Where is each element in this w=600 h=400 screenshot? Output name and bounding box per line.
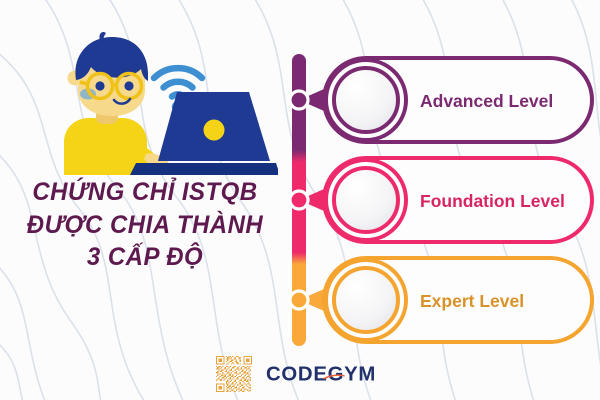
headline-line-1: CHỨNG CHỈ ISTQB — [6, 176, 284, 209]
qr-code[interactable] — [216, 356, 252, 392]
codegym-logo[interactable]: CODEGYM — [266, 362, 384, 386]
headline-line-3: 3 CẤP ĐỘ — [6, 241, 284, 274]
level-label-advanced: Advanced Level — [420, 91, 553, 111]
lens-ring-inner-expert — [334, 268, 398, 332]
lens-ring-inner-advanced — [334, 68, 398, 132]
level-label-foundation: Foundation Level — [420, 191, 565, 211]
node-advanced — [290, 91, 308, 109]
level-card-expert[interactable]: Expert Level — [290, 258, 592, 342]
boy-with-laptop-illustration — [48, 30, 278, 175]
node-foundation — [290, 191, 308, 209]
headline-line-2: ĐƯỢC CHIA THÀNH — [6, 209, 284, 242]
laptop-base — [130, 163, 278, 175]
level-card-foundation[interactable]: Foundation Level — [290, 158, 592, 242]
poster-canvas: CHỨNG CHỈ ISTQB ĐƯỢC CHIA THÀNH 3 CẤP ĐỘ — [0, 0, 600, 400]
codegym-wordmark: CODEGYM — [266, 364, 376, 386]
footer-brand-bar: CODEGYM — [0, 352, 600, 396]
lens-ring-inner-foundation — [334, 168, 398, 232]
boy-eye-left — [95, 81, 104, 90]
levels-timeline: Advanced Level Foundation Level Expert L… — [288, 52, 600, 348]
boy-eye-right — [124, 81, 133, 90]
level-card-advanced[interactable]: Advanced Level — [290, 58, 592, 142]
node-expert — [290, 291, 308, 309]
laptop-dot — [204, 120, 225, 141]
page-title: CHỨNG CHỈ ISTQB ĐƯỢC CHIA THÀNH 3 CẤP ĐỘ — [0, 176, 290, 274]
level-label-expert: Expert Level — [420, 291, 524, 311]
